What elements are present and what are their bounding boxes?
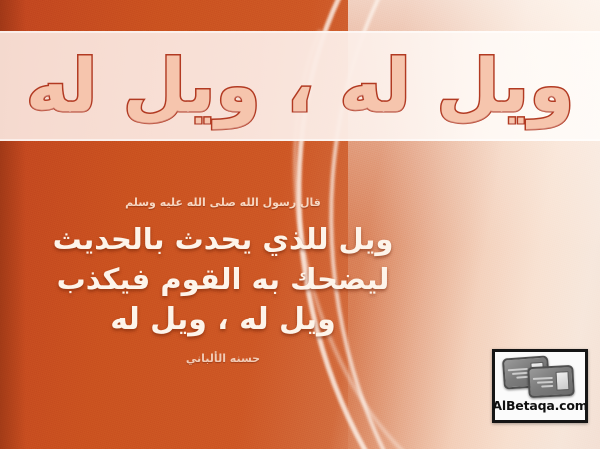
hadith-card: ويل له ، ويل له قال رسول الله صلى الله ع… xyxy=(0,0,600,449)
hadith-line-3: ويل له ، ويل له xyxy=(8,299,438,340)
hadith-line-2: ليضحك به القوم فيكذب xyxy=(8,259,438,299)
id-card-lines xyxy=(508,367,529,378)
hadith-content: قال رسول الله صلى الله عليه وسلم ويل للذ… xyxy=(8,196,438,365)
hadith-text: ويل للذي يحدث بالحديث ليضحك به القوم فيك… xyxy=(8,219,438,340)
albetaqa-logo[interactable]: AlBetaqa.com xyxy=(492,349,588,423)
id-card-photo xyxy=(555,371,569,391)
logo-text: AlBetaqa.com xyxy=(492,400,587,413)
hadith-line-1: ويل للذي يحدث بالحديث xyxy=(8,219,438,259)
id-card-front-icon xyxy=(527,365,575,398)
id-cards-icon xyxy=(502,356,578,398)
id-card-lines xyxy=(533,376,553,387)
narrator-line: قال رسول الله صلى الله عليه وسلم xyxy=(8,196,438,209)
page-title: ويل له ، ويل له xyxy=(0,33,600,139)
hadith-grading: حسنه الألباني xyxy=(8,352,438,365)
